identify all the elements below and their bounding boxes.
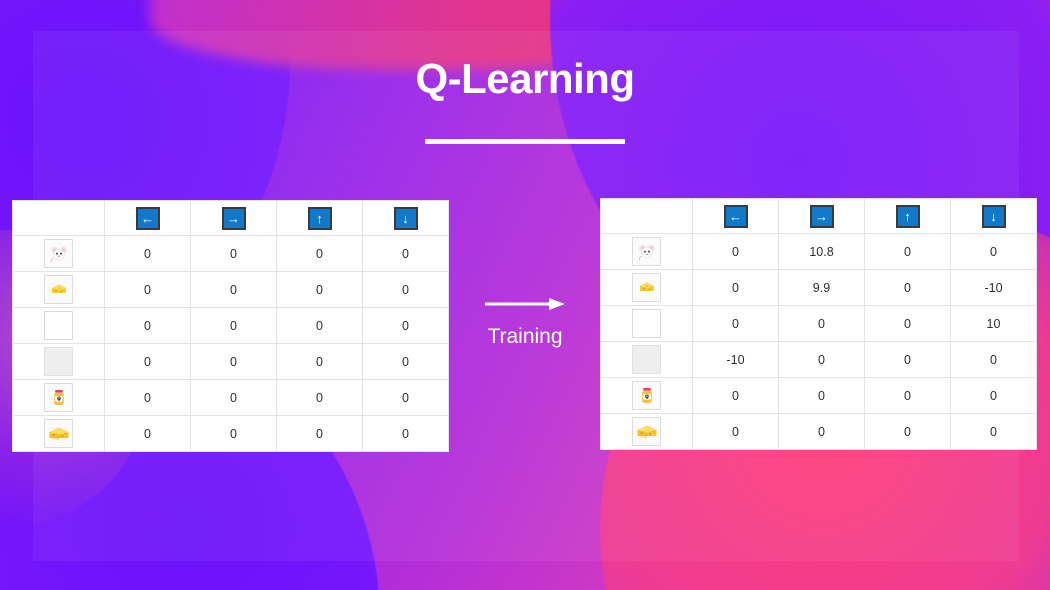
table-row: 0 0 0 10 — [601, 306, 1037, 342]
q-table-initial: ← → ↑ ↓ — [12, 200, 449, 452]
table-row: 0 10.8 0 0 — [601, 234, 1037, 270]
q-value-cell: 0 — [865, 306, 951, 342]
q-value-cell: 0 — [951, 234, 1037, 270]
right-arrow-icon — [483, 296, 567, 312]
q-value-cell: 0 — [865, 414, 951, 450]
poison-icon — [632, 381, 661, 410]
arrow-down-icon[interactable]: ↓ — [394, 207, 418, 230]
q-value-cell: 0 — [363, 308, 449, 344]
header-action-left: ← — [693, 199, 779, 234]
header-action-left: ← — [105, 201, 191, 236]
mouse-icon — [632, 237, 661, 266]
q-value-cell: -10 — [951, 270, 1037, 306]
empty-gray-icon — [44, 347, 73, 376]
q-value-cell: 0 — [277, 236, 363, 272]
q-value-cell: 10 — [951, 306, 1037, 342]
arrow-left-icon[interactable]: ← — [724, 205, 748, 228]
arrow-right-icon[interactable]: → — [222, 207, 246, 230]
q-value-cell: 0 — [693, 270, 779, 306]
cheese-small-icon — [632, 273, 661, 302]
q-value-cell: 0 — [277, 380, 363, 416]
state-cell-cheese-small — [13, 272, 105, 308]
table-row: 0 9.9 0 -10 — [601, 270, 1037, 306]
q-value-cell: 0 — [951, 378, 1037, 414]
q-value-cell: 0 — [865, 342, 951, 378]
header-action-right: → — [779, 199, 865, 234]
q-value-cell: 0 — [363, 344, 449, 380]
cheese-large-icon — [44, 419, 73, 448]
q-value-cell: 0 — [105, 272, 191, 308]
table-row: 0 0 0 0 — [601, 378, 1037, 414]
state-cell-empty-white — [601, 306, 693, 342]
q-value-cell: 0 — [191, 344, 277, 380]
q-value-cell: 0 — [105, 236, 191, 272]
q-value-cell: 0 — [191, 380, 277, 416]
empty-gray-icon — [632, 345, 661, 374]
q-table-trained: ← → ↑ ↓ — [600, 198, 1037, 450]
q-value-cell: 0 — [191, 272, 277, 308]
q-value-cell: 0 — [693, 378, 779, 414]
title-block: Q-Learning — [0, 58, 1050, 144]
q-value-cell: 0 — [951, 342, 1037, 378]
arrow-right-icon[interactable]: → — [810, 205, 834, 228]
header-action-right: → — [191, 201, 277, 236]
header-action-down: ↓ — [363, 201, 449, 236]
empty-white-icon — [632, 309, 661, 338]
q-value-cell: -10 — [693, 342, 779, 378]
state-cell-cheese-small — [601, 270, 693, 306]
q-value-cell: 0 — [363, 380, 449, 416]
q-value-cell: 0 — [693, 306, 779, 342]
q-value-cell: 0 — [191, 308, 277, 344]
q-value-cell: 0 — [105, 380, 191, 416]
header-action-up: ↑ — [865, 199, 951, 234]
header-state-cell — [13, 201, 105, 236]
q-value-cell: 0 — [779, 342, 865, 378]
q-value-cell: 0 — [693, 414, 779, 450]
training-transition: Training — [455, 296, 595, 347]
header-action-down: ↓ — [951, 199, 1037, 234]
q-value-cell: 0 — [779, 414, 865, 450]
header-action-up: ↑ — [277, 201, 363, 236]
state-cell-cheese-large — [601, 414, 693, 450]
slide-canvas: Q-Learning ← → ↑ ↓ — [0, 0, 1050, 590]
q-value-cell: 0 — [779, 378, 865, 414]
arrow-left-icon[interactable]: ← — [136, 207, 160, 230]
q-value-cell: 0 — [693, 234, 779, 270]
q-value-cell: 0 — [363, 416, 449, 452]
poison-icon — [44, 383, 73, 412]
q-value-cell: 0 — [363, 236, 449, 272]
table-row: 0 0 0 0 — [13, 236, 449, 272]
arrow-up-icon[interactable]: ↑ — [308, 207, 332, 230]
q-value-cell: 0 — [277, 308, 363, 344]
q-value-cell: 0 — [865, 378, 951, 414]
table-row: 0 0 0 0 — [13, 380, 449, 416]
state-cell-empty-gray — [13, 344, 105, 380]
q-value-cell: 0 — [191, 236, 277, 272]
q-value-cell: 0 — [277, 416, 363, 452]
state-cell-mouse — [601, 234, 693, 270]
table-row: 0 0 0 0 — [13, 416, 449, 452]
q-value-cell: 0 — [277, 272, 363, 308]
table-header-row: ← → ↑ ↓ — [601, 199, 1037, 234]
q-value-cell: 0 — [191, 416, 277, 452]
table-row: 0 0 0 0 — [13, 308, 449, 344]
cheese-small-icon — [44, 275, 73, 304]
arrow-up-icon[interactable]: ↑ — [896, 205, 920, 228]
q-value-cell: 9.9 — [779, 270, 865, 306]
q-value-cell: 0 — [105, 344, 191, 380]
q-value-cell: 0 — [277, 344, 363, 380]
page-title: Q-Learning — [0, 58, 1050, 100]
state-cell-poison — [13, 380, 105, 416]
training-label: Training — [455, 326, 595, 347]
arrow-down-icon[interactable]: ↓ — [982, 205, 1006, 228]
q-value-cell: 10.8 — [779, 234, 865, 270]
q-value-cell: 0 — [951, 414, 1037, 450]
state-cell-mouse — [13, 236, 105, 272]
empty-white-icon — [44, 311, 73, 340]
state-cell-empty-white — [13, 308, 105, 344]
title-underline — [425, 139, 625, 144]
state-cell-poison — [601, 378, 693, 414]
cheese-large-icon — [632, 417, 661, 446]
table-row: 0 0 0 0 — [13, 344, 449, 380]
q-value-cell: 0 — [779, 306, 865, 342]
q-value-cell: 0 — [865, 234, 951, 270]
state-cell-empty-gray — [601, 342, 693, 378]
table-row: 0 0 0 0 — [601, 414, 1037, 450]
table-header-row: ← → ↑ ↓ — [13, 201, 449, 236]
table-row: -10 0 0 0 — [601, 342, 1037, 378]
header-state-cell — [601, 199, 693, 234]
q-value-cell: 0 — [363, 272, 449, 308]
mouse-icon — [44, 239, 73, 268]
state-cell-cheese-large — [13, 416, 105, 452]
q-value-cell: 0 — [105, 416, 191, 452]
q-value-cell: 0 — [865, 270, 951, 306]
q-value-cell: 0 — [105, 308, 191, 344]
table-row: 0 0 0 0 — [13, 272, 449, 308]
